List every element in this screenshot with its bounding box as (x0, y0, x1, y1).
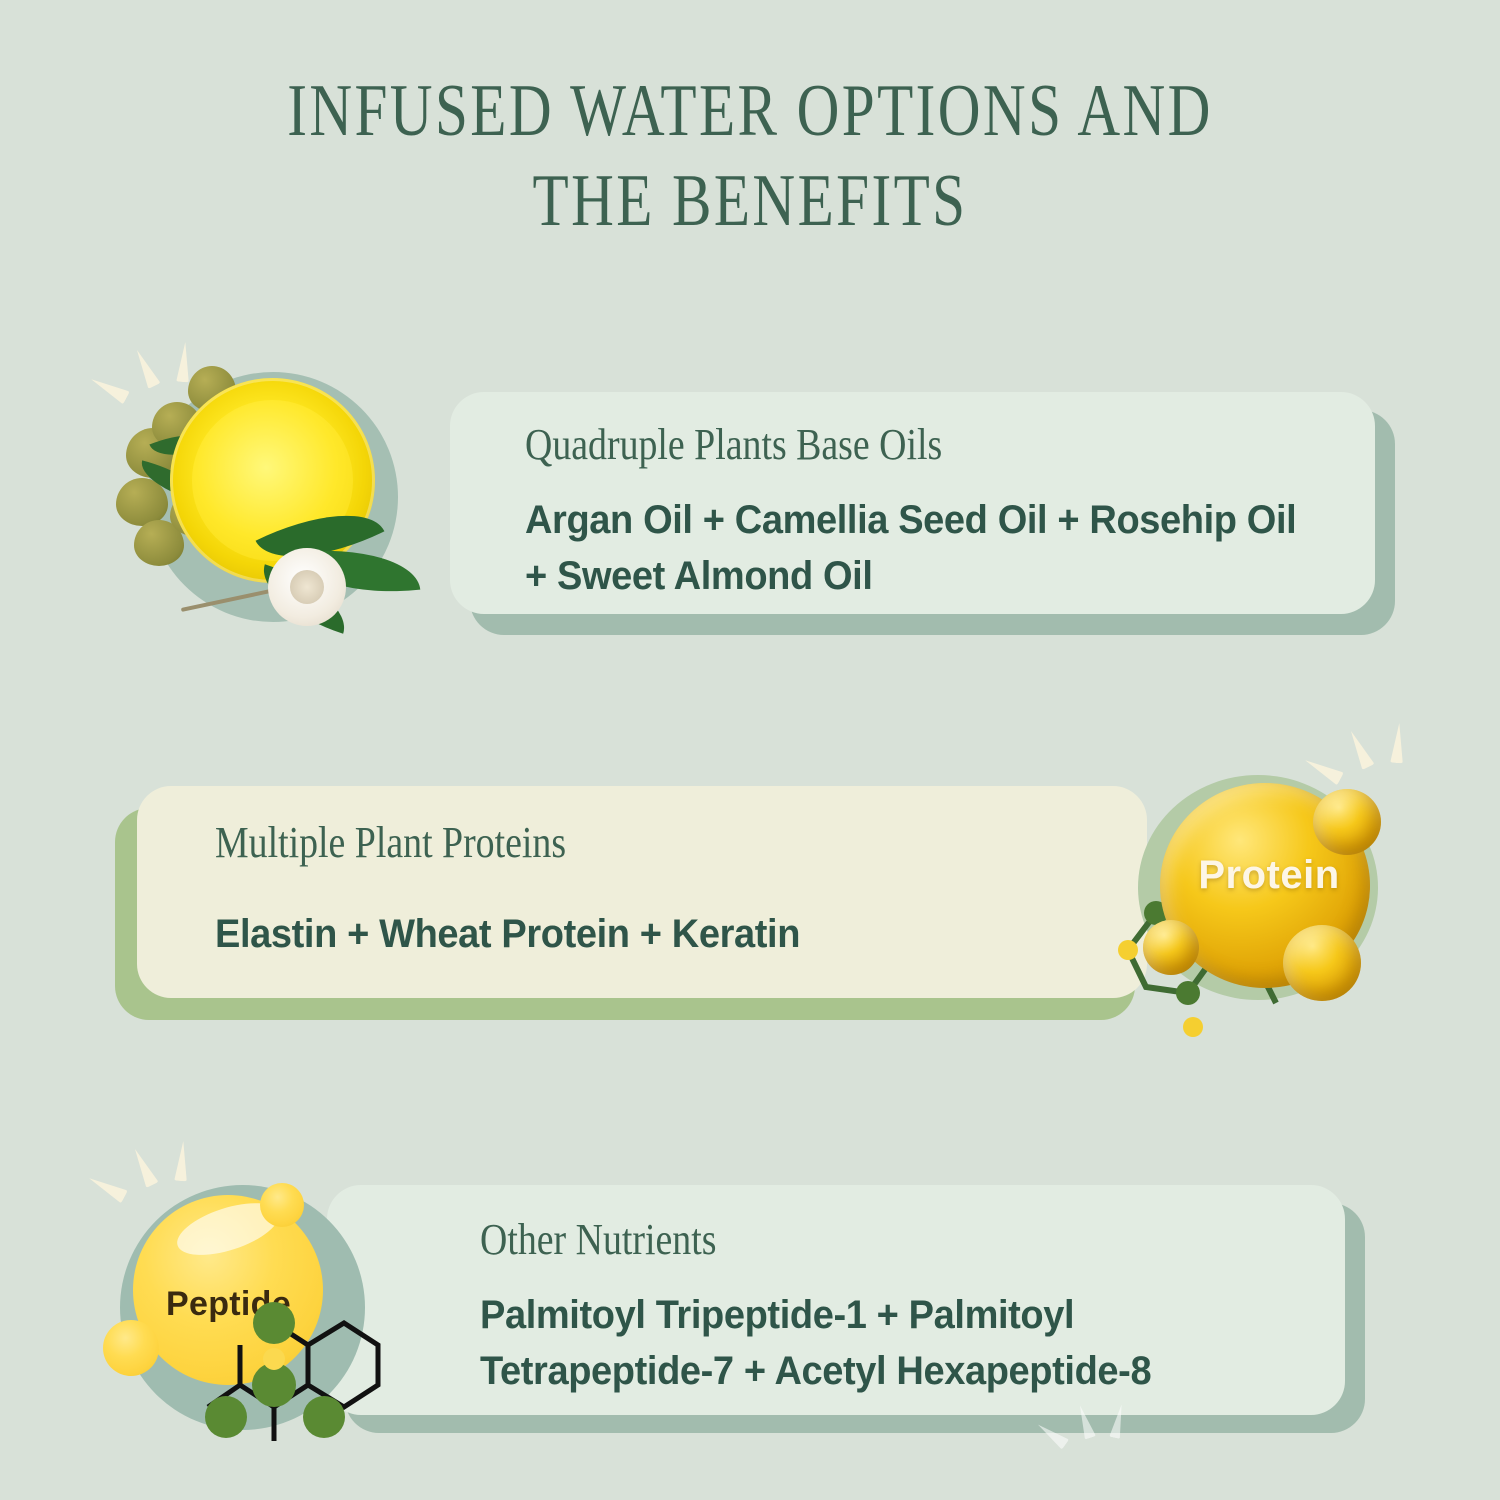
sparkle-icon (1055, 1388, 1138, 1451)
card-other-nutrients: Other Nutrients Palmitoyl Tripeptide-1 +… (0, 0, 1500, 1500)
card-detail: Palmitoyl Tripeptide-1 + Palmitoyl Tetra… (480, 1287, 1288, 1399)
card-kicker: Other Nutrients (480, 1215, 1211, 1265)
card-text-group: Other Nutrients Palmitoyl Tripeptide-1 +… (480, 1215, 1330, 1399)
peptide-illustration: Peptide (108, 1145, 438, 1445)
